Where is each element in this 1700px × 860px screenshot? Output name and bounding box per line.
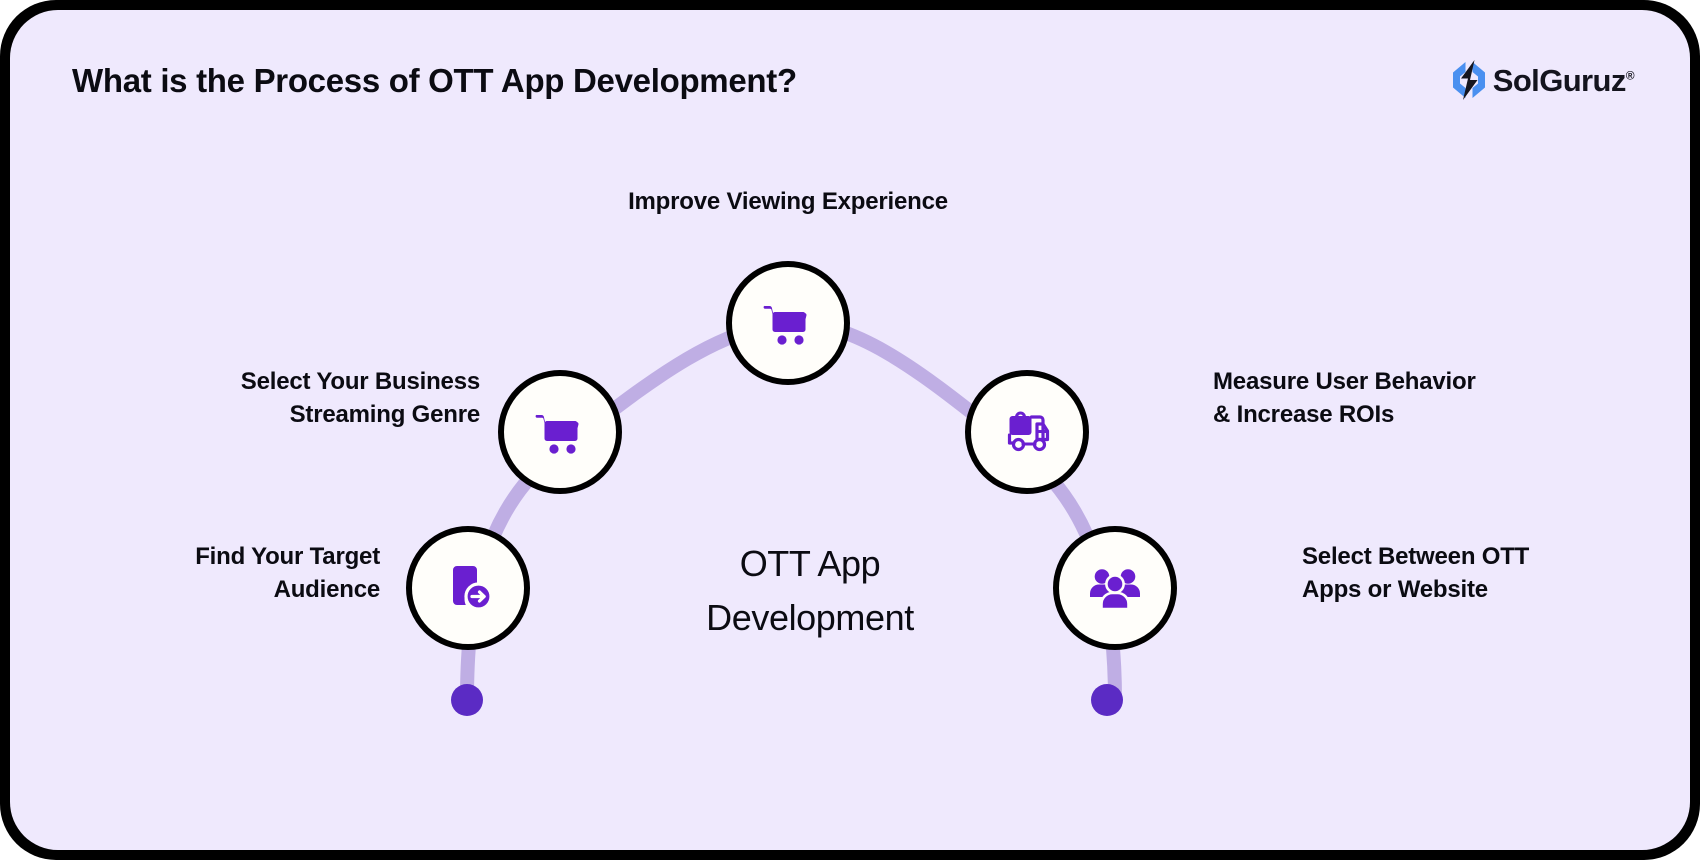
delivery-truck-icon <box>997 402 1057 462</box>
node-improve-viewing-experience[interactable] <box>726 261 850 385</box>
node-measure-user-behavior-increase-rois[interactable] <box>965 370 1089 494</box>
node-find-your-target-audience[interactable] <box>406 526 530 650</box>
arc-end-dot-left <box>451 684 483 716</box>
label-find-your-target-audience: Find Your Target Audience <box>70 540 380 606</box>
user-group-icon <box>1086 559 1144 617</box>
infographic-frame: What is the Process of OTT App Developme… <box>0 0 1700 860</box>
label-select-between-ott-apps-or-website: Select Between OTT Apps or Website <box>1302 540 1672 606</box>
brand-logo: SolGuruz® <box>1447 56 1634 104</box>
node-select-your-business-streaming-genre[interactable] <box>498 370 622 494</box>
center-title: OTT App Development <box>630 537 990 645</box>
label-measure-user-behavior-increase-rois: Measure User Behavior & Increase ROIs <box>1213 365 1613 431</box>
label-select-your-business-streaming-genre: Select Your Business Streaming Genre <box>120 365 480 431</box>
node-select-between-ott-apps-or-website[interactable] <box>1053 526 1177 650</box>
mobile-arrow-icon <box>438 558 498 618</box>
registered-trademark-symbol: ® <box>1626 68 1634 82</box>
brand-name: SolGuruz® <box>1493 65 1634 96</box>
label-improve-viewing-experience: Improve Viewing Experience <box>588 185 988 218</box>
shopping-cart-icon <box>758 293 818 353</box>
arc-end-dot-right <box>1091 684 1123 716</box>
page-title: What is the Process of OTT App Developme… <box>72 62 797 100</box>
solguruz-bolt-hexagon-logo-icon <box>1447 58 1491 102</box>
shopping-cart-icon <box>530 402 590 462</box>
infographic-canvas: What is the Process of OTT App Developme… <box>10 10 1690 850</box>
